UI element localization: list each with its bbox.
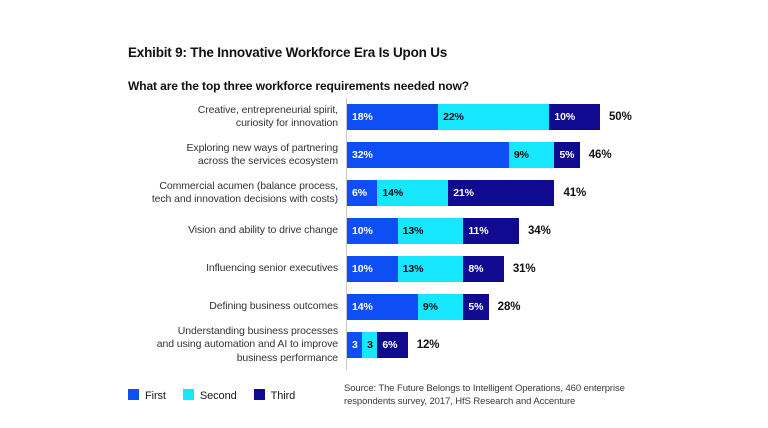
bar-row-label-line: Creative, entrepreneurial spirit, xyxy=(138,104,338,118)
source-note: Source: The Future Belongs to Intelligen… xyxy=(344,383,654,408)
bar-segment-value: 9% xyxy=(423,302,438,313)
bar-segment-value: 8% xyxy=(468,264,483,275)
stacked-bar: 10%13%8%31% xyxy=(347,256,536,282)
table-row: Defining business outcomes14%9%5%28% xyxy=(128,288,668,326)
stacked-bar: 14%9%5%28% xyxy=(347,294,520,320)
bar-segment-first: 10% xyxy=(347,256,398,282)
page-title: Exhibit 9: The Innovative Workforce Era … xyxy=(128,45,447,60)
bar-segment-value: 13% xyxy=(403,264,424,275)
bar-row-label-line: Defining business outcomes xyxy=(138,300,338,314)
bar-segment-second: 22% xyxy=(438,104,549,130)
bar-segment-first: 14% xyxy=(347,294,418,320)
bar-segment-value: 10% xyxy=(352,226,373,237)
bar-row-label-line: Vision and ability to drive change xyxy=(138,224,338,238)
bar-row-label: Creative, entrepreneurial spirit,curiosi… xyxy=(138,104,338,131)
chart-legend: FirstSecondThird xyxy=(128,389,312,402)
chart-question-subtitle: What are the top three workforce require… xyxy=(128,79,469,93)
bar-segment-value: 22% xyxy=(443,112,464,123)
bar-segment-value: 6% xyxy=(352,188,367,199)
bar-segment-second: 14% xyxy=(377,180,448,206)
bar-segment-value: 13% xyxy=(403,226,424,237)
legend-item-label: First xyxy=(145,390,166,402)
bar-total-value: 46% xyxy=(580,142,612,168)
bar-total-value: 28% xyxy=(489,294,521,320)
bar-segment-value: 5% xyxy=(468,302,483,313)
bar-segment-third: 5% xyxy=(554,142,579,168)
bar-segment-first: 32% xyxy=(347,142,509,168)
bar-segment-second: 13% xyxy=(398,218,464,244)
table-row: Commercial acumen (balance process,tech … xyxy=(128,174,668,212)
stacked-bar: 10%13%11%34% xyxy=(347,218,551,244)
table-row: Creative, entrepreneurial spirit,curiosi… xyxy=(128,98,668,136)
bar-segment-value: 6% xyxy=(382,340,397,351)
bar-row-label-line: Understanding business processes xyxy=(138,325,338,339)
bar-total-value: 31% xyxy=(504,256,536,282)
chart-plot-area: Creative, entrepreneurial spirit,curiosi… xyxy=(128,98,668,370)
bar-row-label-line: Commercial acumen (balance process, xyxy=(138,180,338,194)
bar-total-value: 12% xyxy=(408,332,440,358)
bar-segment-third: 10% xyxy=(549,104,600,130)
bar-segment-second: 3 xyxy=(362,332,377,358)
bar-row-label-line: Exploring new ways of partnering xyxy=(138,142,338,156)
bar-total-value: 41% xyxy=(554,180,586,206)
bar-segment-third: 8% xyxy=(463,256,503,282)
chart-page: Exhibit 9: The Innovative Workforce Era … xyxy=(0,0,768,428)
bar-segment-value: 18% xyxy=(352,112,373,123)
table-row: Influencing senior executives10%13%8%31% xyxy=(128,250,668,288)
bar-segment-second: 9% xyxy=(509,142,555,168)
stacked-bar: 32%9%5%46% xyxy=(347,142,611,168)
bar-row-label: Vision and ability to drive change xyxy=(138,224,338,238)
bar-row-label-line: curiosity for innovation xyxy=(138,117,338,131)
legend-swatch-icon xyxy=(183,389,194,400)
bar-segment-value: 9% xyxy=(514,150,529,161)
legend-item-second[interactable]: Second xyxy=(183,389,237,402)
bar-row-label: Commercial acumen (balance process,tech … xyxy=(138,180,338,207)
stacked-bar: 18%22%10%50% xyxy=(347,104,632,130)
bar-segment-value: 10% xyxy=(554,112,575,123)
bar-total-value: 50% xyxy=(600,104,632,130)
bar-row-label: Understanding business processesand usin… xyxy=(138,325,338,366)
bar-segment-value: 32% xyxy=(352,150,373,161)
legend-swatch-icon xyxy=(254,389,265,400)
bar-segment-third: 5% xyxy=(463,294,488,320)
bar-segment-first: 10% xyxy=(347,218,398,244)
legend-item-label: Second xyxy=(200,390,237,402)
bar-segment-third: 11% xyxy=(463,218,519,244)
bar-row-label-line: across the services ecosystem xyxy=(138,155,338,169)
bar-row-label-line: business performance xyxy=(138,352,338,366)
bar-row-label-line: Influencing senior executives xyxy=(138,262,338,276)
stacked-bar: 336%12% xyxy=(347,332,439,358)
bar-segment-value: 14% xyxy=(382,188,403,199)
bar-row-label-line: tech and innovation decisions with costs… xyxy=(138,193,338,207)
bar-segment-first: 6% xyxy=(347,180,377,206)
bar-total-value: 34% xyxy=(519,218,551,244)
bar-segment-value: 3 xyxy=(367,340,373,351)
stacked-bar: 6%14%21%41% xyxy=(347,180,586,206)
bar-segment-value: 10% xyxy=(352,264,373,275)
bar-row-label: Defining business outcomes xyxy=(138,300,338,314)
legend-swatch-icon xyxy=(128,389,139,400)
table-row: Exploring new ways of partneringacross t… xyxy=(128,136,668,174)
bar-row-label-line: and using automation and AI to improve xyxy=(138,338,338,352)
bar-segment-value: 3 xyxy=(352,340,358,351)
legend-item-first[interactable]: First xyxy=(128,389,166,402)
bar-segment-first: 18% xyxy=(347,104,438,130)
bar-segment-value: 14% xyxy=(352,302,373,313)
bar-segment-third: 21% xyxy=(448,180,554,206)
bar-segment-value: 11% xyxy=(468,226,488,237)
legend-item-third[interactable]: Third xyxy=(254,389,296,402)
bar-segment-value: 21% xyxy=(453,188,474,199)
bar-segment-value: 5% xyxy=(559,150,574,161)
bar-segment-second: 9% xyxy=(418,294,464,320)
bar-row-label: Influencing senior executives xyxy=(138,262,338,276)
bar-segment-first: 3 xyxy=(347,332,362,358)
bar-row-label: Exploring new ways of partneringacross t… xyxy=(138,142,338,169)
legend-item-label: Third xyxy=(271,390,296,402)
bar-segment-second: 13% xyxy=(398,256,464,282)
table-row: Understanding business processesand usin… xyxy=(128,326,668,364)
bar-segment-third: 6% xyxy=(377,332,407,358)
table-row: Vision and ability to drive change10%13%… xyxy=(128,212,668,250)
